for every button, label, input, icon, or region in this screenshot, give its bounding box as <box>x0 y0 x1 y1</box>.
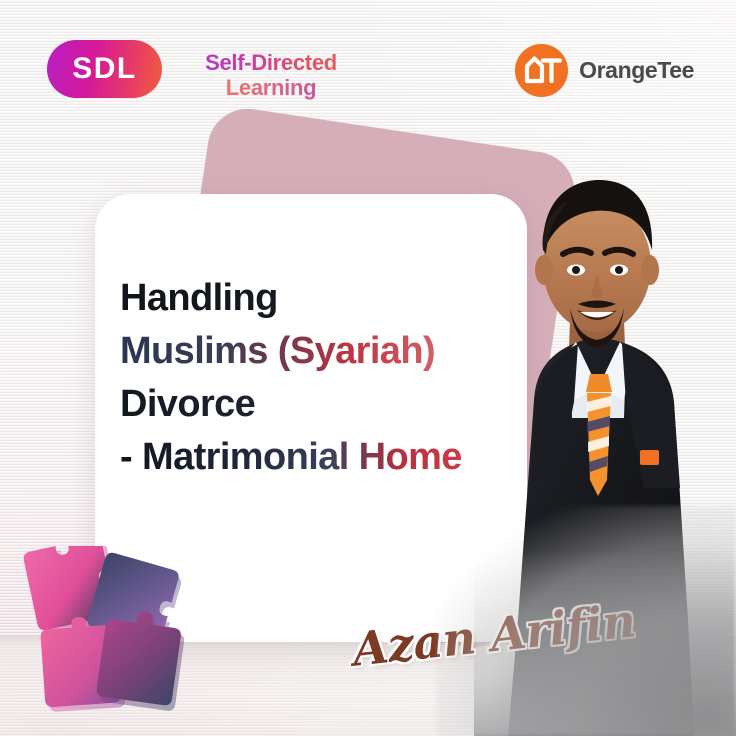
photo-shadow-haze <box>436 506 736 736</box>
orangetee-logo: OrangeTee <box>515 44 694 97</box>
sdl-tagline-line2: Learning <box>166 75 376 100</box>
orangetee-mark-icon <box>515 44 568 97</box>
sdl-badge-label: SDL <box>72 52 137 86</box>
puzzle-decoration <box>8 546 193 716</box>
sdl-tagline-line1: Self-Directed <box>166 50 376 75</box>
page-title-line-3: Divorce <box>120 378 520 431</box>
page-title-line-4: - Matrimonial Home <box>120 431 520 484</box>
page-title: Handling Muslims (Syariah) Divorce - Mat… <box>120 272 520 484</box>
page-title-line-2: Muslims (Syariah) <box>120 325 520 378</box>
orangetee-wordmark: OrangeTee <box>579 57 694 84</box>
sdl-tagline: Self-Directed Learning <box>166 50 376 100</box>
sdl-badge: SDL <box>47 40 162 98</box>
poster-canvas: SDL Self-Directed Learning OrangeTee Han… <box>0 0 736 736</box>
page-title-line-1: Handling <box>120 272 520 325</box>
